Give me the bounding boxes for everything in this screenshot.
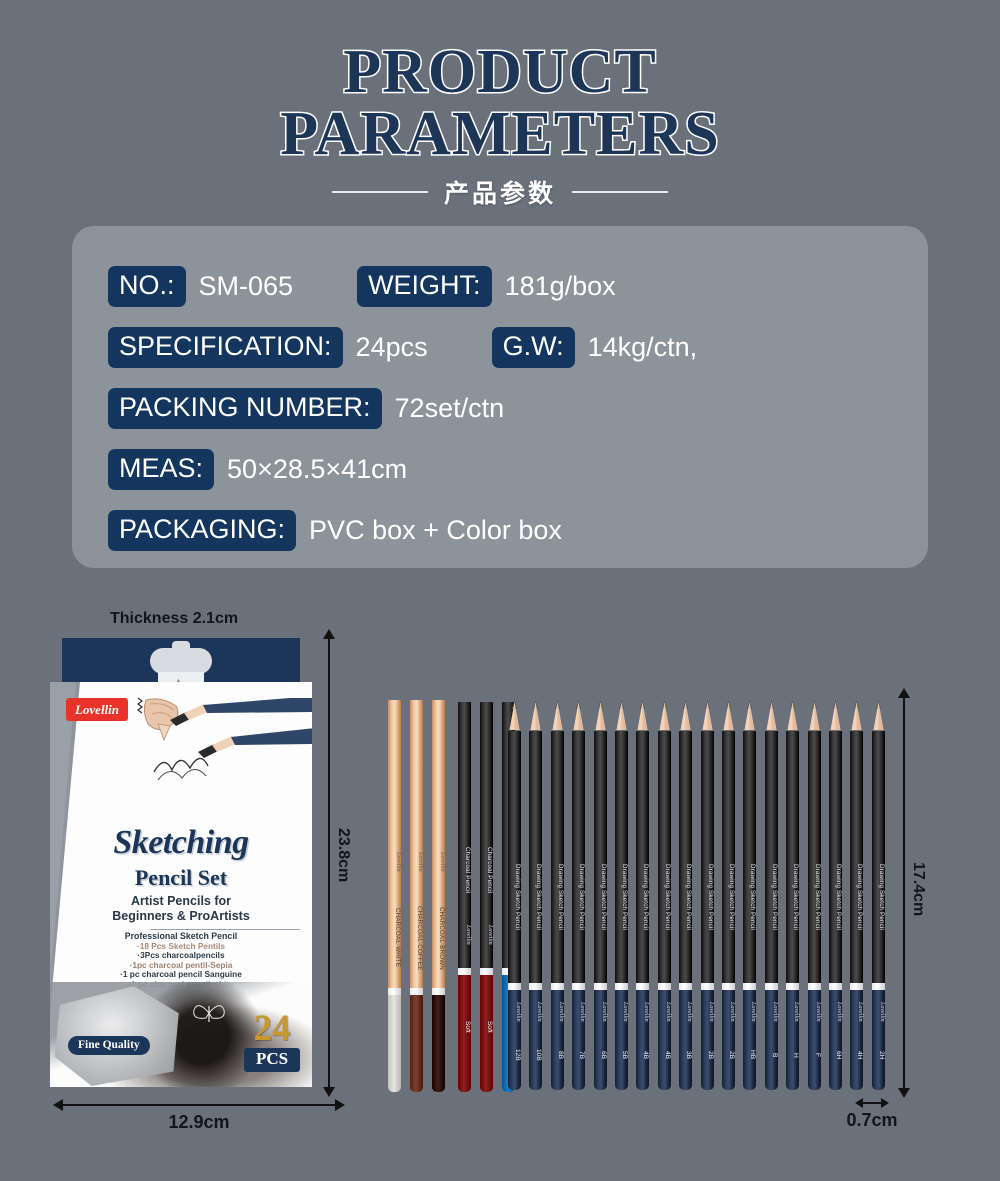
pencil-tip-icon: [829, 700, 842, 734]
pencil-brand-logo: Lovellin: [658, 996, 671, 1028]
pencil-tip-icon: [722, 700, 735, 734]
pencil-grade: 6B: [594, 1040, 607, 1070]
pencil-tip-icon: [658, 700, 671, 734]
pencil-brand-logo: Lovellin: [808, 996, 821, 1028]
pencil-brand-logo: Lovellin: [743, 996, 756, 1028]
pencil-grade: 6H: [829, 1040, 842, 1070]
pencil-tip-icon: [679, 700, 692, 734]
pencil-text: Drawing Sketch Pencil: [786, 845, 799, 950]
pencil-array: LovellinCHARCOAL-WHITELovellinCHARCOAL-C…: [0, 0, 1000, 1181]
pencil-grade: F: [808, 1040, 821, 1070]
pencil-text: Drawing Sketch Pencil: [743, 845, 756, 950]
pencil-text: Drawing Sketch Pencil: [508, 845, 521, 950]
pencil-brand-logo: Lovellin: [722, 996, 735, 1028]
pencil-text: Charcoal Pencil: [480, 830, 493, 910]
pencil-brand-logo: Lovellin: [701, 996, 714, 1028]
pencil-grade: 4H: [850, 1040, 863, 1070]
pencil-text: Drawing Sketch Pencil: [572, 845, 585, 950]
pencil-brand-logo: Lovellin: [615, 996, 628, 1028]
pencil-text: Drawing Sketch Pencil: [551, 845, 564, 950]
pencil-tip-icon: [850, 700, 863, 734]
pencil-text: Drawing Sketch Pencil: [850, 845, 863, 950]
pencil-brand-logo: Lovellin: [786, 996, 799, 1028]
pencil-brand-logo: Lovellin: [529, 996, 542, 1028]
pencil-text: Drawing Sketch Pencil: [829, 845, 842, 950]
pencil-tip-icon: [808, 700, 821, 734]
pencil-grade: 2B: [722, 1040, 735, 1070]
pencil-tip-icon: [572, 700, 585, 734]
pencil-brand-logo: Lovellin: [410, 842, 423, 882]
pencil-text: Drawing Sketch Pencil: [765, 845, 778, 950]
pencil-tip-icon: [701, 700, 714, 734]
pencil-grade: 8B: [551, 1040, 564, 1070]
pencil-text: Drawing Sketch Pencil: [529, 845, 542, 950]
pencil-grade: 4B: [658, 1040, 671, 1070]
pencil-grade: Soft: [480, 1010, 493, 1044]
pencil-tip-icon: [743, 700, 756, 734]
pencil-grade: 12B: [508, 1040, 521, 1070]
pencil-brand-logo: Lovellin: [458, 915, 471, 955]
pencil-text: CHARCOAL-COFFEE: [410, 888, 423, 988]
pencil-grade: HB: [743, 1040, 756, 1070]
pencil-tip-icon: [636, 700, 649, 734]
pencil-brand-logo: Lovellin: [432, 842, 445, 882]
pencil-grade: 5B: [615, 1040, 628, 1070]
pencil-tip-icon: [594, 700, 607, 734]
pencil-tip-icon: [551, 700, 564, 734]
pencil-tip-icon: [872, 700, 885, 734]
pencil-tip-icon: [529, 700, 542, 734]
pencil-text: Charcoal Pencil: [458, 830, 471, 910]
pencil-tip-icon: [615, 700, 628, 734]
pencil-grade: B: [765, 1040, 778, 1070]
pencil-brand-logo: Lovellin: [850, 996, 863, 1028]
pencil-grade: 3B: [679, 1040, 692, 1070]
pencil-tip-icon: [765, 700, 778, 734]
pencil-text: Drawing Sketch Pencil: [872, 845, 885, 950]
pencil-tip-icon: [786, 700, 799, 734]
pencil-text: CHARCOAL-BROWN: [432, 888, 445, 988]
pencil-text: Drawing Sketch Pencil: [615, 845, 628, 950]
pencil-grade: H: [786, 1040, 799, 1070]
pencil-brand-logo: Lovellin: [636, 996, 649, 1028]
pencil-brand-logo: Lovellin: [872, 996, 885, 1028]
pencil-brand-logo: Lovellin: [594, 996, 607, 1028]
pencil-text: Drawing Sketch Pencil: [679, 845, 692, 950]
pencil-brand-logo: Lovellin: [480, 915, 493, 955]
pencil-grade: Soft: [458, 1010, 471, 1044]
pencil-text: Drawing Sketch Pencil: [594, 845, 607, 950]
pencil-brand-logo: Lovellin: [572, 996, 585, 1028]
pencil-tip-icon: [508, 700, 521, 734]
pencil-grade: 7B: [572, 1040, 585, 1070]
pencil-grade: 2H: [872, 1040, 885, 1070]
pencil-grade: 2B: [701, 1040, 714, 1070]
pencil-text: Drawing Sketch Pencil: [658, 845, 671, 950]
pencil-grade: 10B: [529, 1040, 542, 1070]
pencil-text: CHARCOAL-WHITE: [388, 888, 401, 988]
pencil-brand-logo: Lovellin: [765, 996, 778, 1028]
pencil-brand-logo: Lovellin: [551, 996, 564, 1028]
pencil-text: Drawing Sketch Pencil: [808, 845, 821, 950]
pencil-brand-logo: Lovellin: [388, 842, 401, 882]
pencil-brand-logo: Lovellin: [679, 996, 692, 1028]
pencil-brand-logo: Lovellin: [829, 996, 842, 1028]
pencil-brand-logo: Lovellin: [508, 996, 521, 1028]
pencil-text: Drawing Sketch Pencil: [701, 845, 714, 950]
pencil-text: Drawing Sketch Pencil: [722, 845, 735, 950]
pencil-text: Drawing Sketch Pencil: [636, 845, 649, 950]
pencil-grade: 4B: [636, 1040, 649, 1070]
